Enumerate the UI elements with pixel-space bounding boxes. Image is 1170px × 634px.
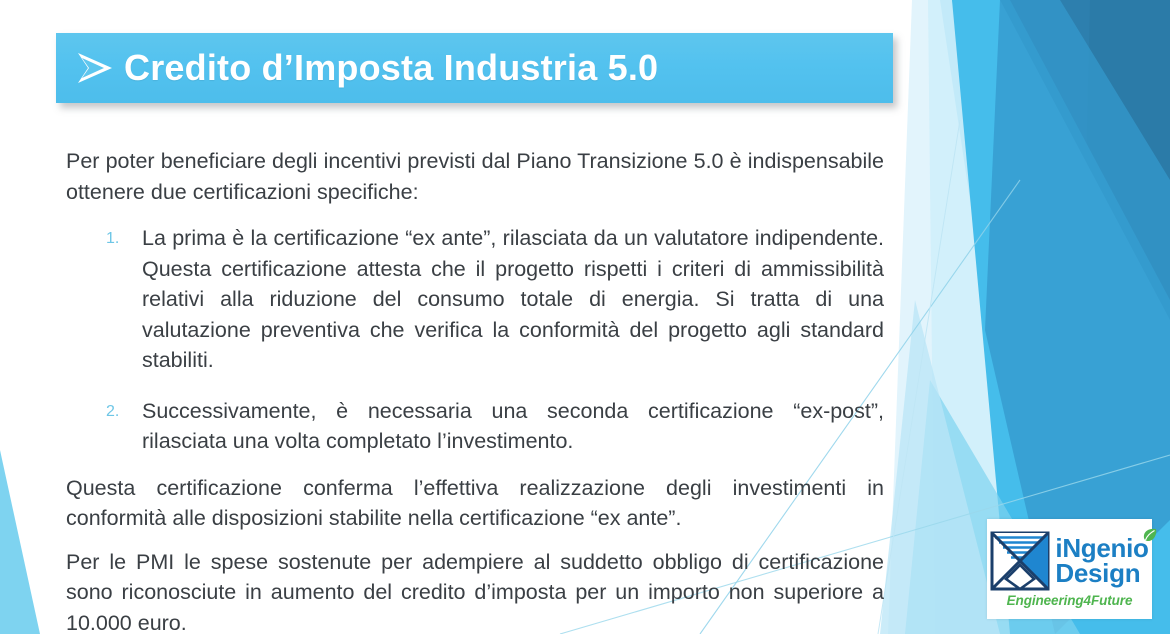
leaf-icon [1141, 527, 1158, 544]
list-item: 1. La prima è la certificazione “ex ante… [106, 223, 884, 376]
decor-shape-bottomleft-wedge [0, 450, 40, 634]
list-item-marker: 1. [106, 225, 134, 253]
logo-wordmark: iNgenio Design [1055, 536, 1148, 586]
decor-shape-paleblue-c [880, 300, 1000, 634]
ingenio-square-mark-icon [990, 531, 1050, 591]
slide-body: Per poter beneficiare degli incentivi pr… [66, 146, 884, 634]
list-item-marker: 2. [106, 398, 134, 426]
intro-paragraph: Per poter beneficiare degli incentivi pr… [66, 146, 884, 207]
logo-line-2: Design [1055, 561, 1148, 586]
list-item-text: La prima è la certificazione “ex ante”, … [142, 226, 884, 372]
logo-main-row: iNgenio Design [994, 531, 1145, 591]
paragraph-after-list: Questa certificazione conferma l’effetti… [66, 473, 884, 534]
slide: Credito d’Imposta Industria 5.0 Per pote… [0, 0, 1170, 634]
list-item: 2. Successivamente, è necessaria una sec… [106, 396, 884, 457]
page-title: Credito d’Imposta Industria 5.0 [124, 50, 658, 86]
decor-hairline-3 [878, 120, 960, 634]
chevron-right-icon [70, 46, 116, 90]
company-logo: iNgenio Design Engineering4Future [987, 519, 1152, 619]
final-paragraph: Per le PMI le spese sostenute per adempi… [66, 547, 884, 634]
logo-tagline: Engineering4Future [1007, 593, 1133, 608]
certification-list: 1. La prima è la certificazione “ex ante… [66, 223, 884, 457]
list-item-text: Successivamente, è necessaria una second… [142, 399, 884, 454]
slide-title-bar: Credito d’Imposta Industria 5.0 [56, 33, 893, 103]
